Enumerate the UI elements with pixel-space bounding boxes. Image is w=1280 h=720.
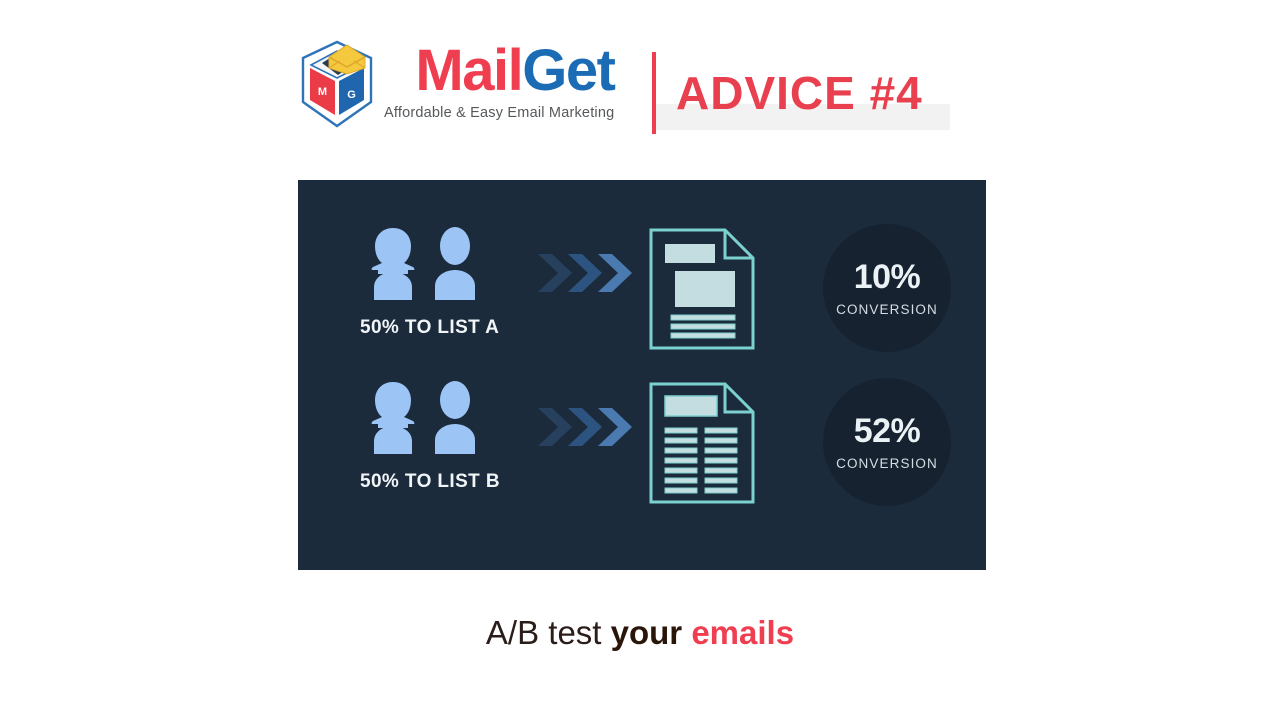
caption: A/B test your emails [0,614,1280,652]
brand-text: MailGet Affordable & Easy Email Marketin… [384,38,614,121]
ab-test-row-a: 50% TO LIST A 10% CONVERSION [298,222,986,377]
document-with-image-icon [643,224,761,354]
person-female-icon [362,222,424,302]
conversion-circle-b: 52% CONVERSION [823,378,951,506]
ab-test-row-b: 50% TO LIST B [298,376,986,531]
advice-title: ADVICE #4 [676,66,923,120]
conversion-circle-a: 10% CONVERSION [823,224,951,352]
person-male-icon [424,222,486,302]
wordmark-get: Get [522,38,614,103]
conversion-value-b: 52% [854,414,921,448]
wordmark: MailGet [415,42,614,100]
triple-chevron-right-icon [536,252,632,294]
conversion-value-a: 10% [854,260,921,294]
brand-logo[interactable]: M G MailGet Affordable & Easy Email Mark… [298,38,614,130]
person-female-icon [362,376,424,456]
triple-chevron-right-icon [536,406,632,448]
document-text-columns-icon [643,378,761,508]
mailget-cube-logo-icon: M G [298,38,376,130]
svg-text:M: M [318,86,327,98]
svg-text:G: G [347,89,356,101]
wordmark-mail: Mail [415,38,522,103]
caption-bold: your [611,614,692,651]
person-male-icon [424,376,486,456]
infographic-panel: 50% TO LIST A 10% CONVERSION [298,180,986,570]
conversion-label-b: CONVERSION [836,457,938,471]
conversion-label-a: CONVERSION [836,303,938,317]
brand-tagline: Affordable & Easy Email Marketing [384,105,614,121]
caption-plain: A/B test [486,614,611,651]
audience-label-b: 50% TO LIST B [360,471,580,493]
audience-label-a: 50% TO LIST A [360,317,580,339]
header: M G MailGet Affordable & Easy Email Mark… [0,0,1280,160]
caption-accent: emails [691,614,794,651]
